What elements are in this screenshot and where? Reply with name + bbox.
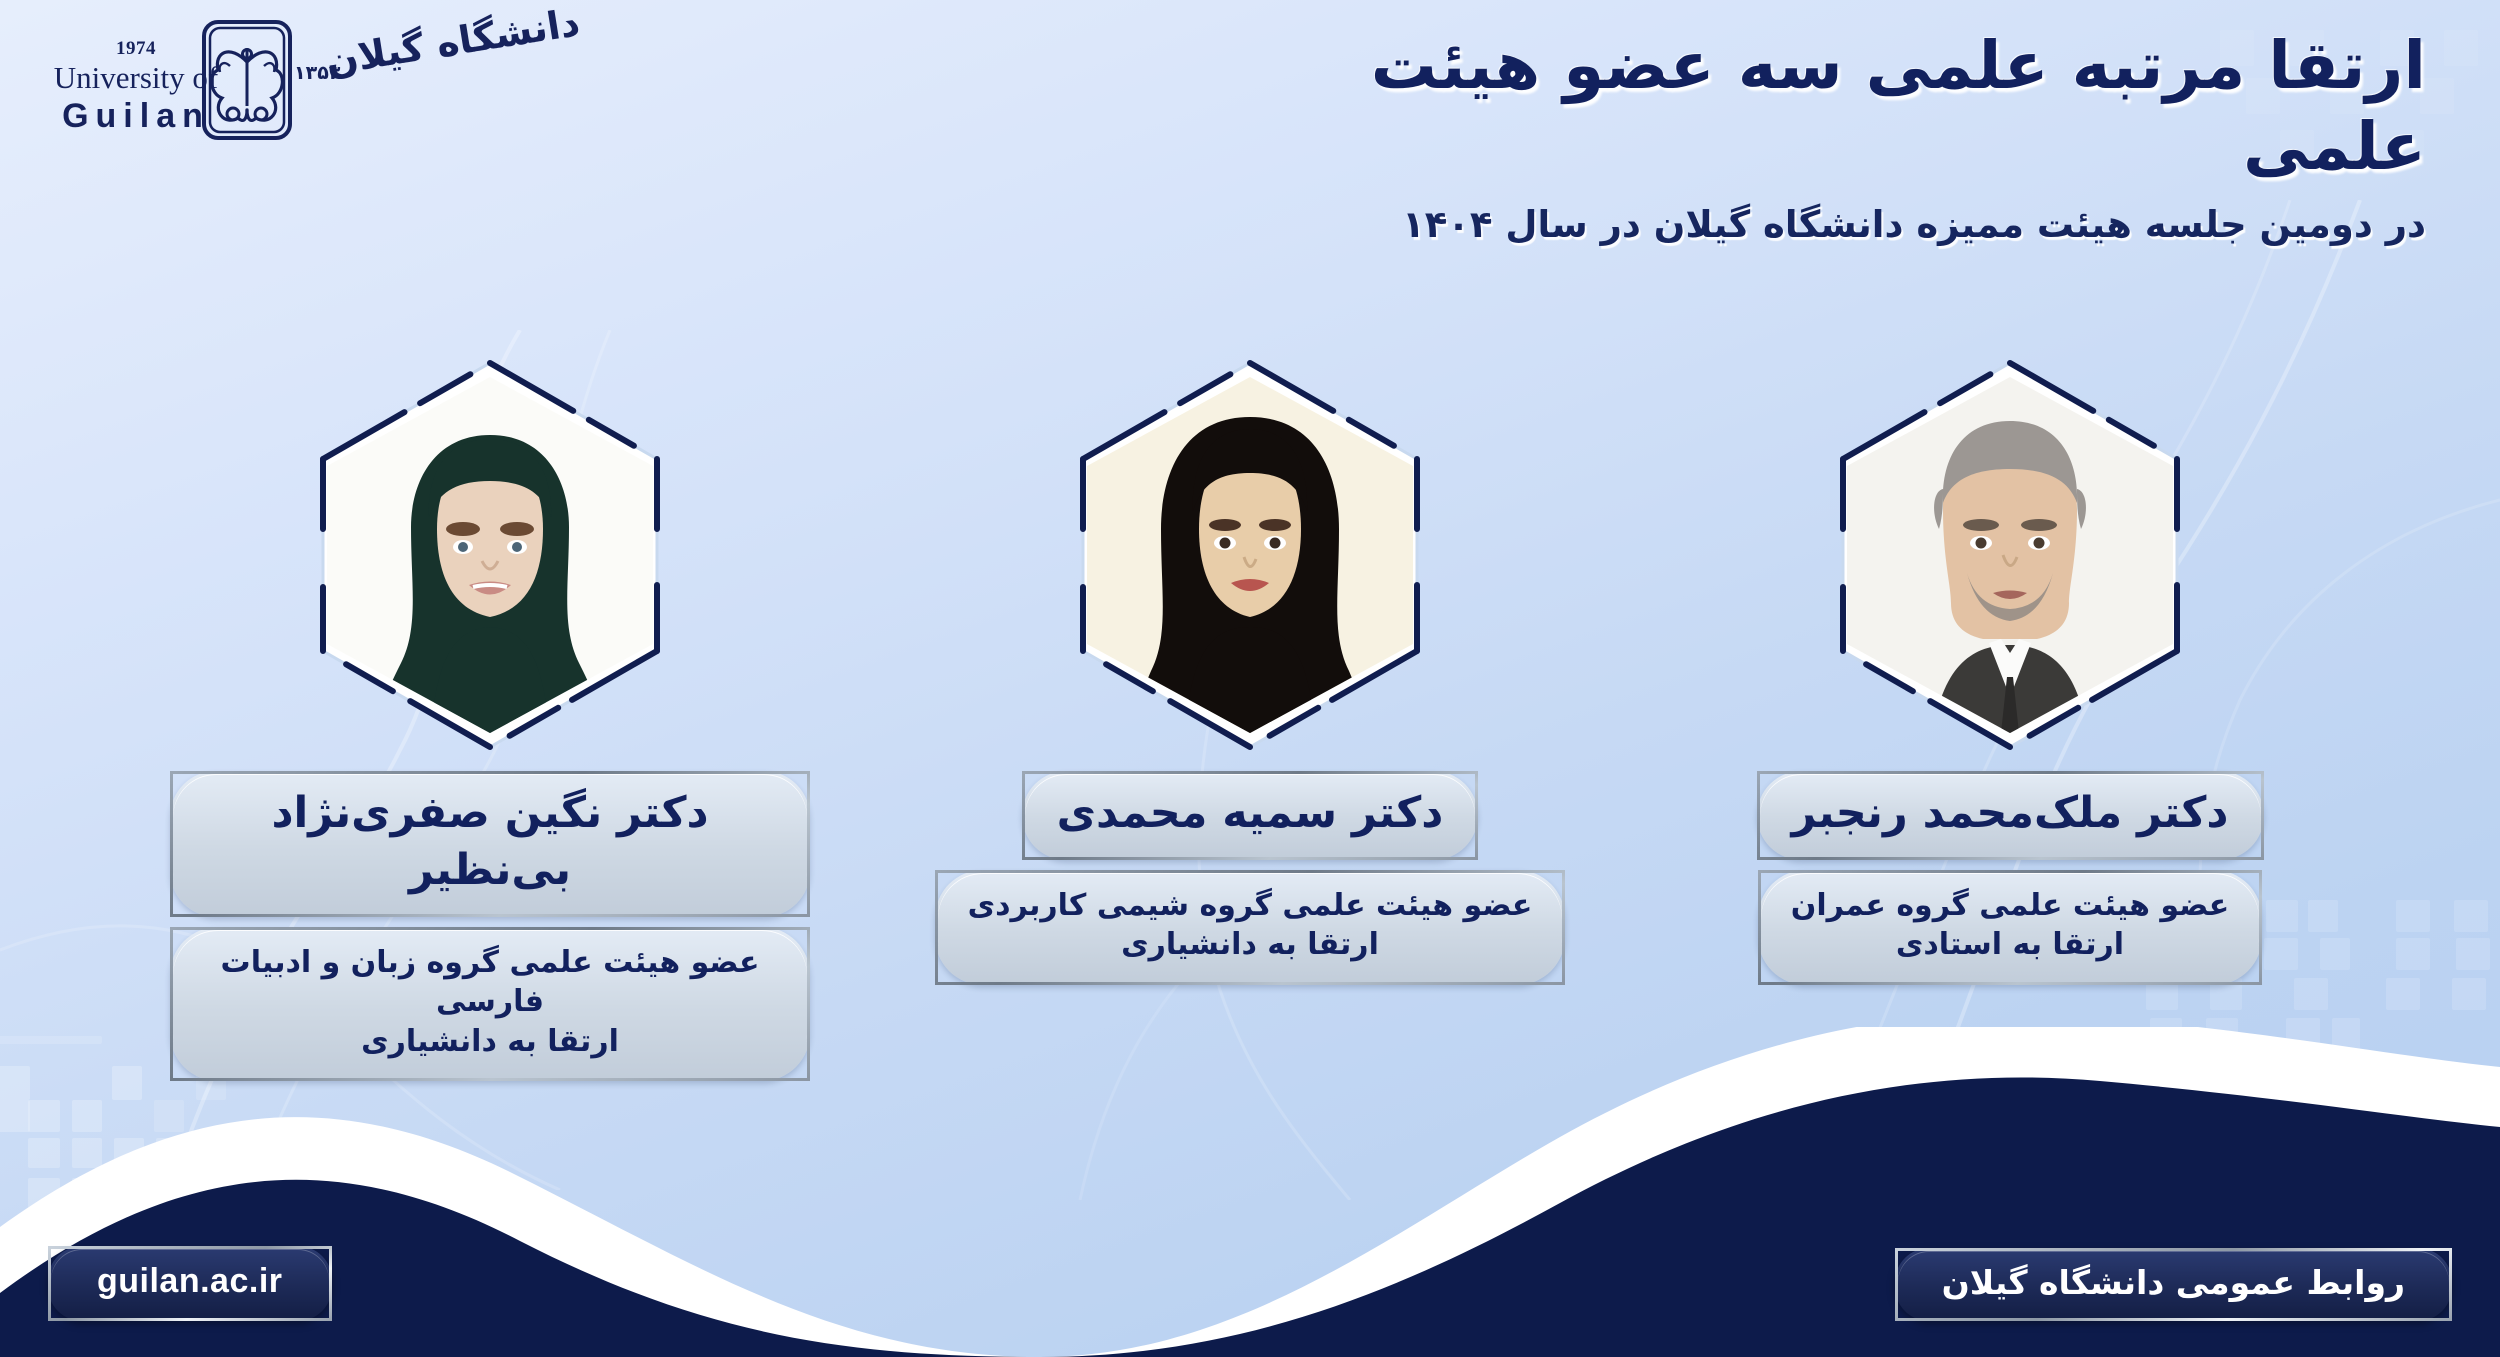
honoree-promotion: ارتقا به استادی xyxy=(1791,925,2230,965)
portrait-frame xyxy=(1825,355,2195,755)
honoree-card: دکتر نگین صفری‌نژاد بی‌نظیر عضو هیئت علم… xyxy=(170,355,810,1081)
honoree-affiliation: عضو هیئت علمی گروه شیمی کاربردی xyxy=(968,888,1533,923)
headline-block: ارتقا مرتبه علمی سه عضو هیئت علمی در دوم… xyxy=(1230,26,2460,249)
honoree-promotion: ارتقا به دانشیاری xyxy=(968,925,1533,965)
portrait-frame xyxy=(305,355,675,755)
honoree-card: دکتر ملک‌محمد رنجبر عضو هیئت علمی گروه ع… xyxy=(1690,355,2330,985)
honoree-name: دکتر سمیه محمدی xyxy=(1022,771,1479,860)
poster-canvas: 1974 University of Guilan ۱۳۵۳ دانشگاه گ… xyxy=(0,0,2500,1357)
honoree-role: عضو هیئت علمی گروه شیمی کاربردی ارتقا به… xyxy=(935,870,1566,985)
portrait-frame xyxy=(1065,355,1435,755)
logo-persian-text: ۱۳۵۳ دانشگاه گیلان xyxy=(292,20,462,140)
honoree-affiliation: عضو هیئت علمی گروه عمران xyxy=(1791,888,2230,923)
logo-university-name-fa: دانشگاه گیلان xyxy=(323,0,583,84)
page-subtitle: در دومین جلسه هیئت ممیزه دانشگاه گیلان د… xyxy=(1230,201,2460,249)
honoree-list: دکتر نگین صفری‌نژاد بی‌نظیر عضو هیئت علم… xyxy=(0,355,2500,1055)
honoree-name: دکتر ملک‌محمد رنجبر xyxy=(1757,771,2264,860)
honoree-affiliation: عضو هیئت علمی گروه زبان و ادبیات فارسی xyxy=(221,945,760,1020)
university-logo: 1974 University of Guilan ۱۳۵۳ دانشگاه گ… xyxy=(30,12,460,147)
page-title: ارتقا مرتبه علمی سه عضو هیئت علمی xyxy=(1230,26,2460,187)
guilan-emblem-icon xyxy=(200,18,294,142)
honoree-card: دکتر سمیه محمدی عضو هیئت علمی گروه شیمی … xyxy=(930,355,1570,985)
honoree-role: عضو هیئت علمی گروه عمران ارتقا به استادی xyxy=(1758,870,2263,985)
website-badge[interactable]: guilan.ac.ir xyxy=(48,1246,332,1321)
honoree-name: دکتر نگین صفری‌نژاد بی‌نظیر xyxy=(170,771,810,917)
public-relations-badge: روابط عمومی دانشگاه گیلان xyxy=(1895,1248,2452,1321)
